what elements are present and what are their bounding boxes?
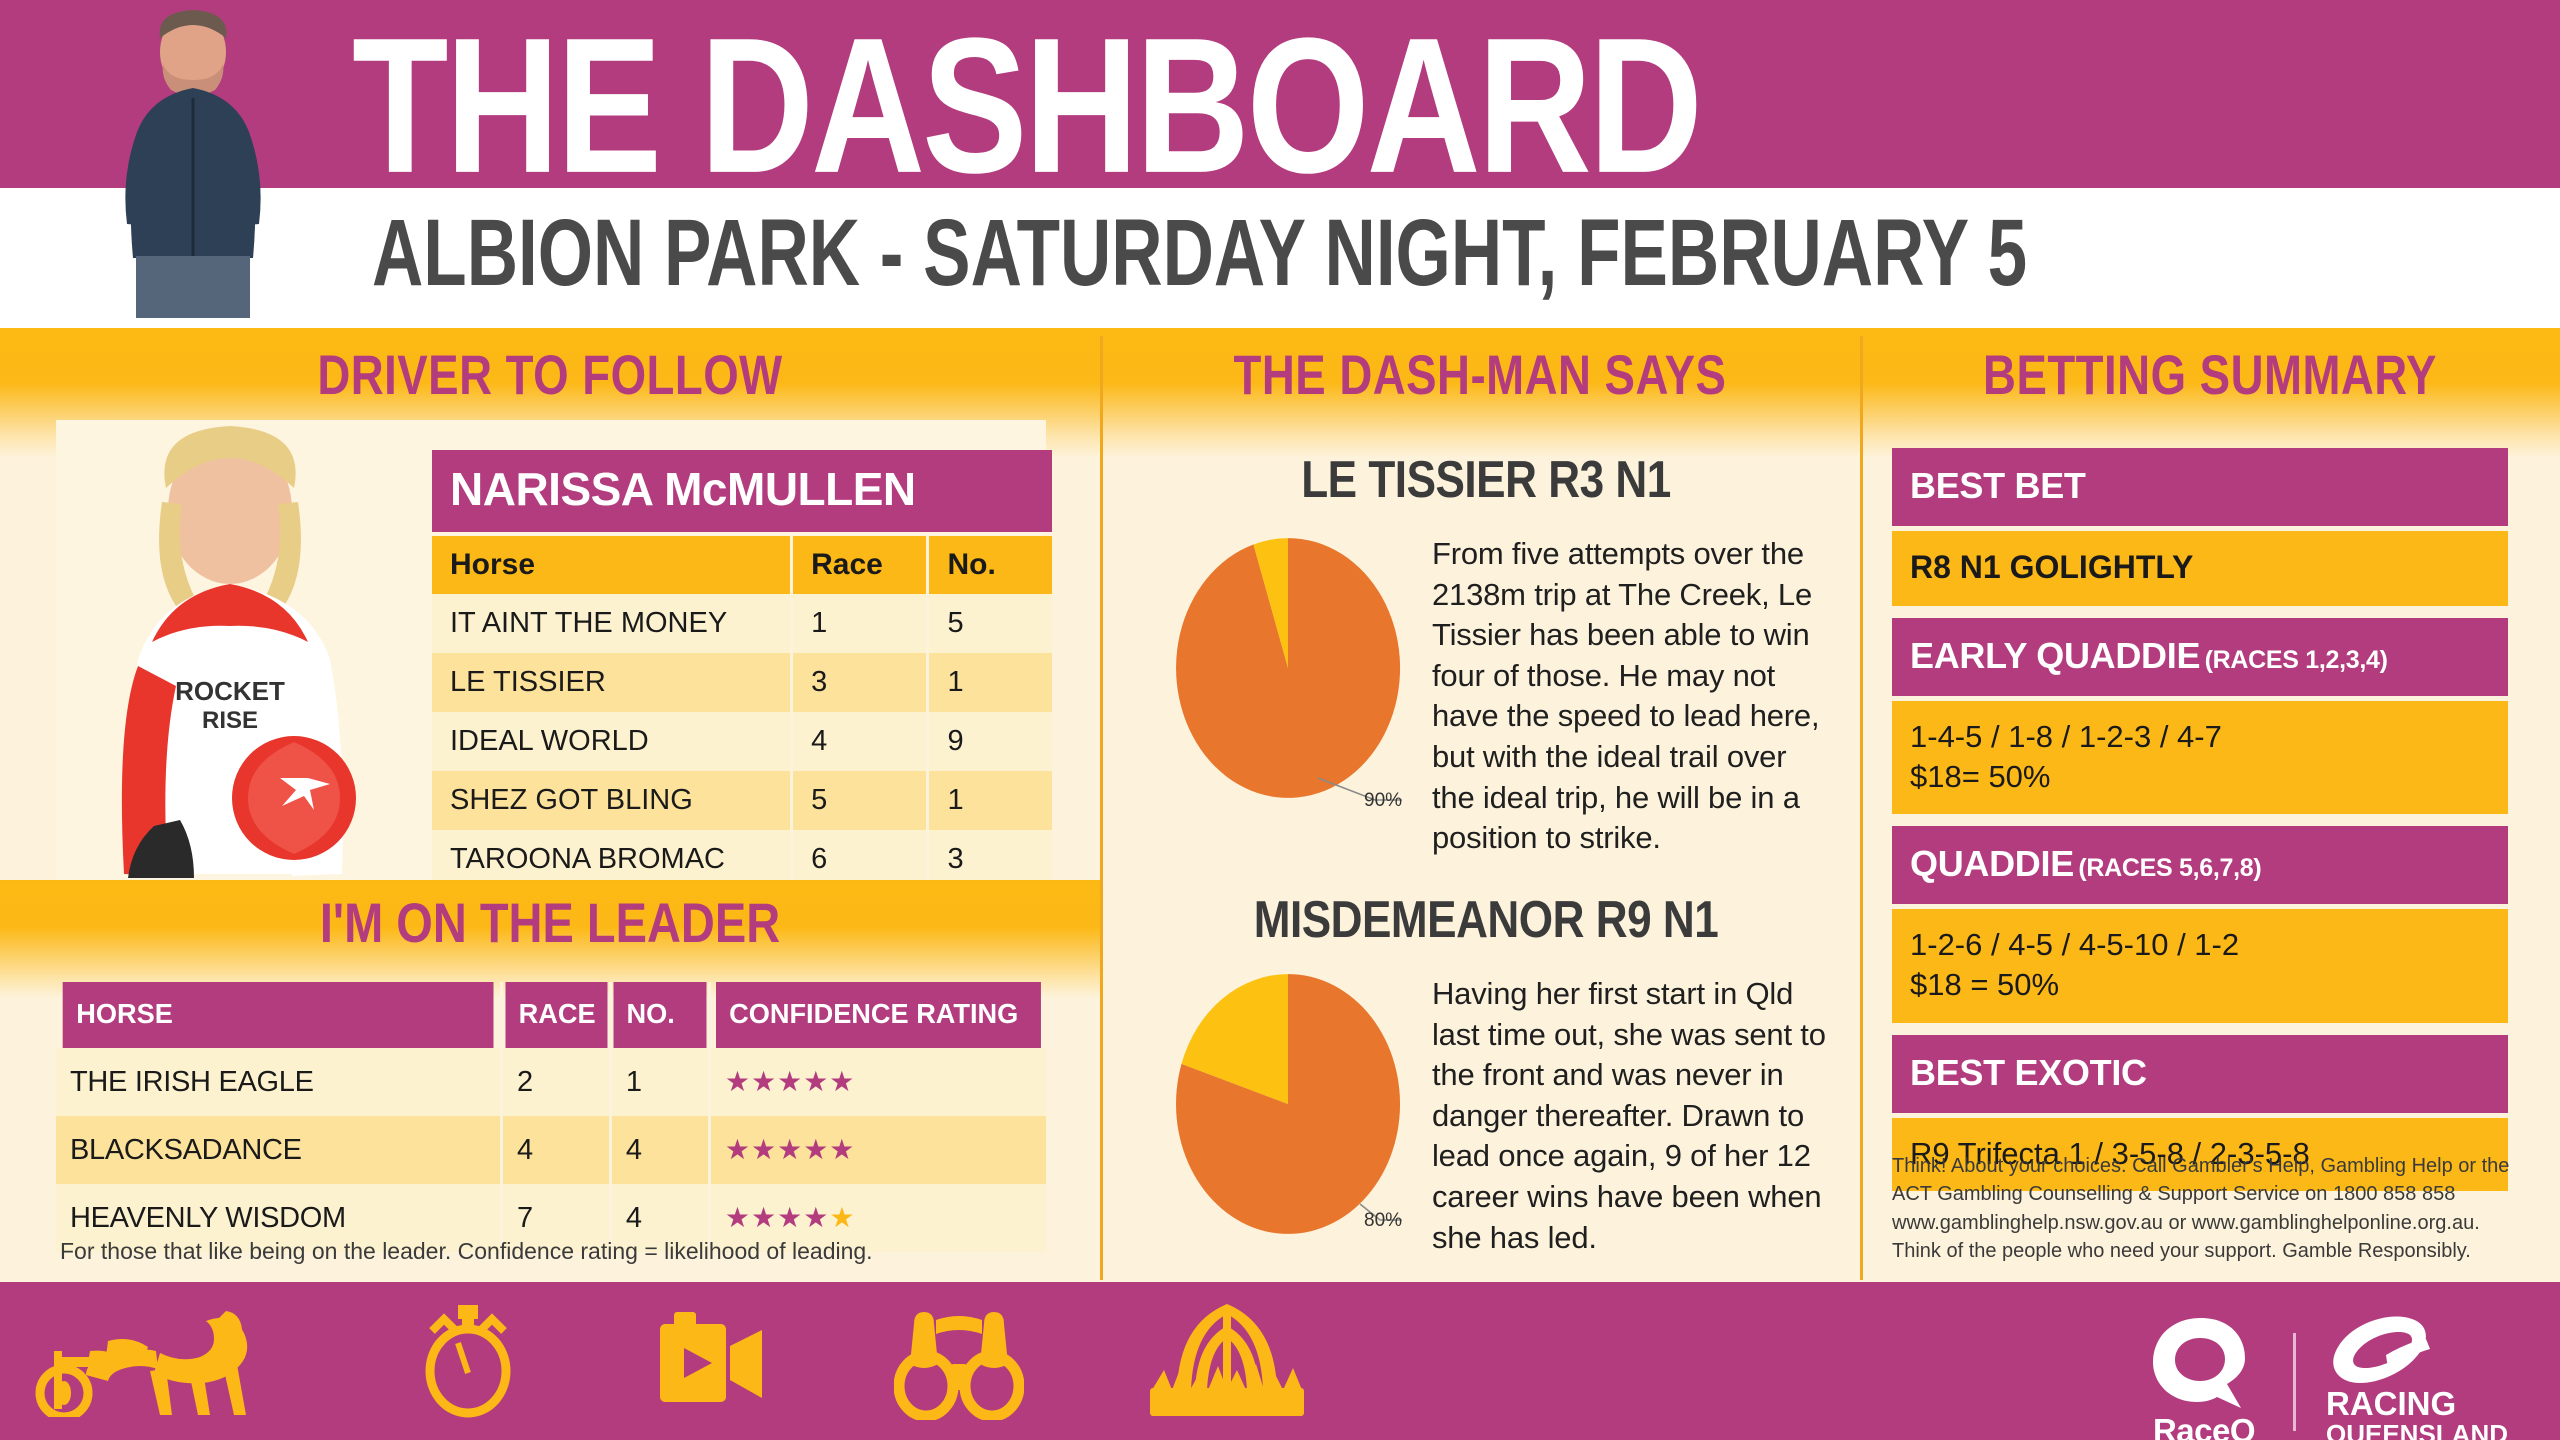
quaddie-races: (RACES 5,6,7,8) [2078,854,2261,882]
cell-horse: IDEAL WORLD [432,712,792,771]
col-header-race: RACE [503,982,609,1048]
leader-table-wrap: HORSE RACE NO. CONFIDENCE RATING THE IRI… [56,982,1046,1252]
cell-no: 4 [610,1116,709,1184]
pie-chart-1: 90% [1136,528,1426,818]
col-header-horse: HORSE [63,982,495,1048]
star-rating: ★★★★★ [725,1134,856,1165]
early-quaddie-value: 1-4-5 / 1-8 / 1-2-3 / 4-7 $18= 50% [1892,701,2508,814]
cell-confidence: ★★★★★ [709,1116,1046,1184]
dash-man-block-1: LE TISSIER R3 N1 90% From five attempts … [1136,450,1836,859]
pie-chart-2: 80% [1136,968,1426,1248]
early-quaddie-label: EARLY QUADDIE [1910,635,2200,676]
cell-race: 2 [502,1048,611,1116]
section-header-im-on-the-leader: I'M ON THE LEADER [0,890,1100,955]
dash-man-block-2: MISDEMEANOR R9 N1 80% Having her first s… [1136,890,1836,1258]
col-header-race: Race [792,536,928,594]
gambling-disclaimer: Think! About your choices. Call Gambler'… [1892,1152,2522,1266]
section-header-dash-man-says: THE DASH-MAN SAYS [1111,342,1848,407]
early-quaddie-races: (RACES 1,2,3,4) [2205,646,2388,674]
quaddie-label: QUADDIE [1910,843,2074,884]
col-header-no: NO. [612,982,708,1048]
logo-separator [2293,1333,2296,1431]
page-title: THE DASHBOARD [352,6,2452,208]
section-header-driver-to-follow: DRIVER TO FOLLOW [17,342,1084,407]
dashboard-page: THE DASHBOARD ALBION PARK - SATURDAY NIG… [0,0,2560,1440]
best-bet-header: BEST BET [1892,448,2508,526]
svg-text:ROCKET: ROCKET [175,676,285,706]
binoculars-icon[interactable] [894,1302,1024,1420]
video-camera-icon[interactable] [646,1306,776,1416]
harness-horse-icon[interactable] [30,1305,290,1417]
cell-confidence: ★★★★★ [709,1048,1046,1116]
cell-horse: LE TISSIER [432,653,792,712]
best-exotic-header: BEST EXOTIC [1892,1035,2508,1113]
table-header-row: HORSE RACE NO. CONFIDENCE RATING [56,982,1046,1048]
cell-race: 4 [792,712,928,771]
cell-race: 1 [792,594,928,653]
dash-man-heading-1: LE TISSIER R3 N1 [1143,450,1829,510]
column-divider-2 [1860,336,1863,1280]
raceq-logo: RaceQ [2145,1314,2263,1440]
col-header-horse: Horse [432,536,792,594]
driver-to-follow-table-wrap: NARISSA McMULLEN Horse Race No. IT AINT … [432,450,1052,948]
stopwatch-icon[interactable] [408,1301,528,1421]
col-header-no: No. [928,536,1052,594]
cell-no: 9 [928,712,1052,771]
driver-photo: ROCKET RISE [80,418,450,878]
col-header-confidence: CONFIDENCE RATING [714,982,1041,1048]
table-row: SHEZ GOT BLING 5 1 [432,771,1052,830]
cell-no: 5 [928,594,1052,653]
quaddie-value: 1-2-6 / 4-5 / 4-5-10 / 1-2 $18 = 50% [1892,909,2508,1022]
dash-man-photo [68,8,318,320]
dash-man-heading-2: MISDEMEANOR R9 N1 [1143,890,1829,950]
star-rating: ★★★★★ [725,1202,856,1233]
raceq-logo-text: RaceQ [2153,1412,2255,1440]
cell-horse: THE IRISH EAGLE [56,1048,502,1116]
table-header-row: Horse Race No. [432,536,1052,594]
section-header-betting-summary: BETTING SUMMARY [1871,342,2550,407]
svg-text:RISE: RISE [202,707,258,734]
pie-percent-label-2: 80% [1364,1210,1402,1232]
footer-icon-row [30,1300,1312,1422]
table-row: IT AINT THE MONEY 1 5 [432,594,1052,653]
cell-horse: BLACKSADANCE [56,1116,502,1184]
best-bet-header-label: BEST BET [1910,465,2086,506]
cell-no: 1 [928,653,1052,712]
cell-horse: SHEZ GOT BLING [432,771,792,830]
driver-name-header: NARISSA McMULLEN [432,450,1052,532]
cell-race: 5 [792,771,928,830]
cell-race: 4 [502,1116,611,1184]
star-rating: ★★★★★ [725,1066,856,1097]
leader-footnote: For those that like being on the leader.… [60,1238,1060,1265]
column-divider-1 [1100,336,1103,1280]
page-subtitle: ALBION PARK - SATURDAY NIGHT, FEBRUARY 5 [372,198,2388,307]
cell-no: 1 [610,1048,709,1116]
cell-no: 1 [928,771,1052,830]
table-row: BLACKSADANCE 4 4 ★★★★★ [56,1116,1046,1184]
quaddie-header: QUADDIE (RACES 5,6,7,8) [1892,826,2508,904]
dash-man-body-1: From five attempts over the 2138m trip a… [1426,528,1836,859]
racing-queensland-logo: RACING QUEENSLAND [2326,1315,2508,1440]
racing-text: RACING [2326,1387,2456,1420]
dash-man-body-2: Having her first start in Qld last time … [1426,968,1836,1258]
table-row: THE IRISH EAGLE 2 1 ★★★★★ [56,1048,1046,1116]
footer-logos: RaceQ RACING QUEENSLAND [2145,1314,2508,1440]
table-row: LE TISSIER 3 1 [432,653,1052,712]
table-row: IDEAL WORLD 4 9 [432,712,1052,771]
cell-horse: IT AINT THE MONEY [432,594,792,653]
pie-percent-label-1: 90% [1364,790,1402,812]
early-quaddie-header: EARLY QUADDIE (RACES 1,2,3,4) [1892,618,2508,696]
betting-summary-panel: BEST BET R8 N1 GOLIGHTLY EARLY QUADDIE (… [1892,448,2508,1203]
cell-race: 3 [792,653,928,712]
best-exotic-label: BEST EXOTIC [1910,1052,2147,1093]
queensland-text: QUEENSLAND [2326,1420,2508,1440]
im-on-the-leader-table: HORSE RACE NO. CONFIDENCE RATING THE IRI… [56,982,1046,1252]
best-bet-value: R8 N1 GOLIGHTLY [1892,531,2508,606]
grandstand-icon[interactable] [1142,1300,1312,1422]
